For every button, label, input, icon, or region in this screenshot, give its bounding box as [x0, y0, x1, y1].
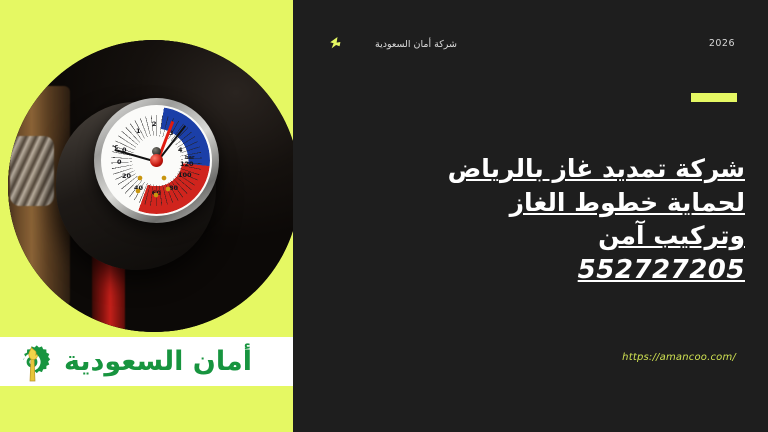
brand-name-label: شركة أمان السعودية: [375, 39, 457, 50]
year-label: 2026: [709, 38, 735, 49]
gauge-hub: [150, 154, 163, 167]
dial-label-pressure-2: 2: [152, 120, 157, 128]
dial-label-temp-20: 20: [122, 172, 131, 180]
headline-line-1: شركة تمديد غاز بالرياض: [448, 154, 745, 183]
headline-block: شركة تمديد غاز بالرياض لحماية خطوط الغاز…: [325, 152, 745, 287]
poster-canvas: 1 2 3 4 0 bar °C 0 20 40 60 80 100 120: [0, 0, 768, 432]
gauge-dial-face: 1 2 3 4 0 bar °C 0 20 40 60 80 100 120: [101, 105, 212, 216]
headline-line-3: وتركيب آمن: [598, 221, 745, 250]
headline-line-2: لحماية خطوط الغاز: [510, 188, 745, 217]
gear-torch-logo-icon: [10, 340, 56, 384]
company-logo-text: أمان السعودية: [64, 348, 252, 375]
brand-header: شركة أمان السعودية: [327, 36, 457, 52]
content-panel: شركة أمان السعودية 2026 شركة تمديد غاز ب…: [293, 0, 768, 432]
hero-photo-circle: 1 2 3 4 0 bar °C 0 20 40 60 80 100 120: [8, 40, 293, 332]
dial-label-temp-120: 120: [180, 160, 194, 168]
lightning-bolt-icon: [327, 36, 343, 52]
dial-label-temp-100: 100: [178, 171, 192, 179]
gauge-face-screws: [134, 174, 180, 200]
company-logo-banner: أمان السعودية: [0, 337, 293, 386]
accent-divider-bar: [691, 93, 737, 102]
pipe-weld-seam: [10, 136, 54, 206]
dial-label-pressure-1: 1: [136, 127, 141, 135]
dial-label-temp-0: 0: [117, 158, 122, 166]
dial-label-pressure-4: 4: [178, 146, 183, 154]
left-accent-panel: 1 2 3 4 0 bar °C 0 20 40 60 80 100 120: [0, 0, 293, 432]
gauge-photo: 1 2 3 4 0 bar °C 0 20 40 60 80 100 120: [8, 40, 293, 332]
phone-number[interactable]: 552727205: [325, 253, 745, 288]
website-url[interactable]: https://amancoo.com/: [622, 352, 736, 363]
gauge-bezel: 1 2 3 4 0 bar °C 0 20 40 60 80 100 120: [94, 98, 219, 223]
